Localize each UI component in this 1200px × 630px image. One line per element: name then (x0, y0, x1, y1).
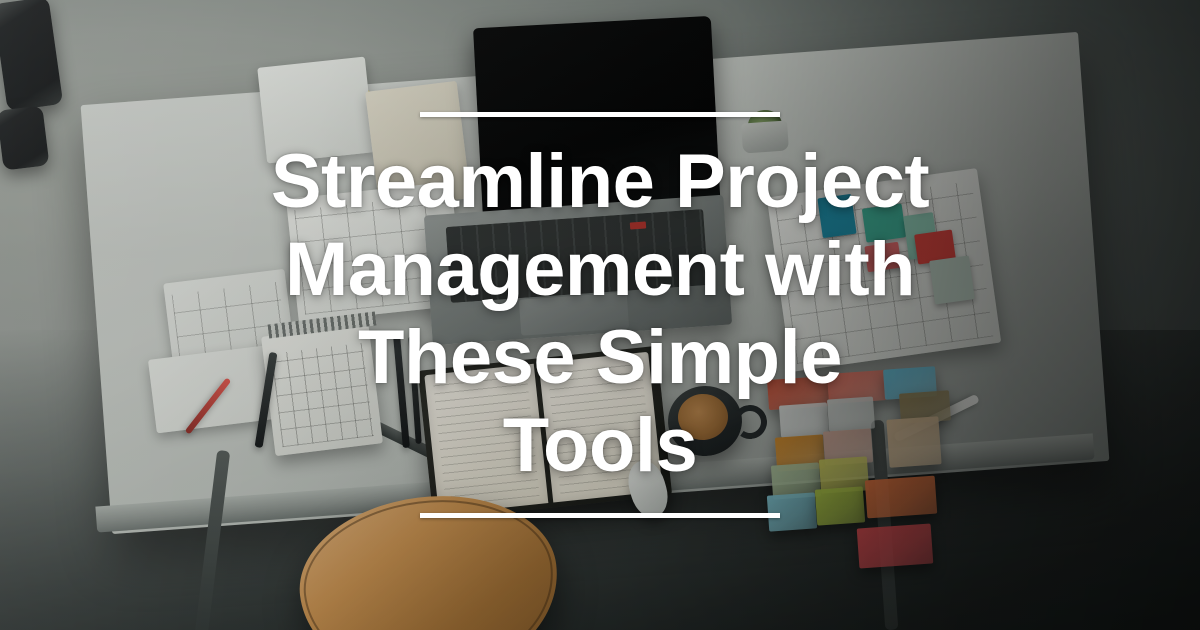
title-line-1: Streamline Project (120, 138, 1080, 226)
page-title: Streamline Project Management with These… (120, 138, 1080, 490)
divider-rule-top (420, 112, 780, 117)
title-line-2: Management with (120, 226, 1080, 314)
headline-overlay: Streamline Project Management with These… (0, 0, 1200, 630)
divider-rule-bottom (420, 513, 780, 518)
hero-card: Streamline Project Management with These… (0, 0, 1200, 630)
title-line-4: Tools (120, 402, 1080, 490)
title-line-3: These Simple (120, 314, 1080, 402)
